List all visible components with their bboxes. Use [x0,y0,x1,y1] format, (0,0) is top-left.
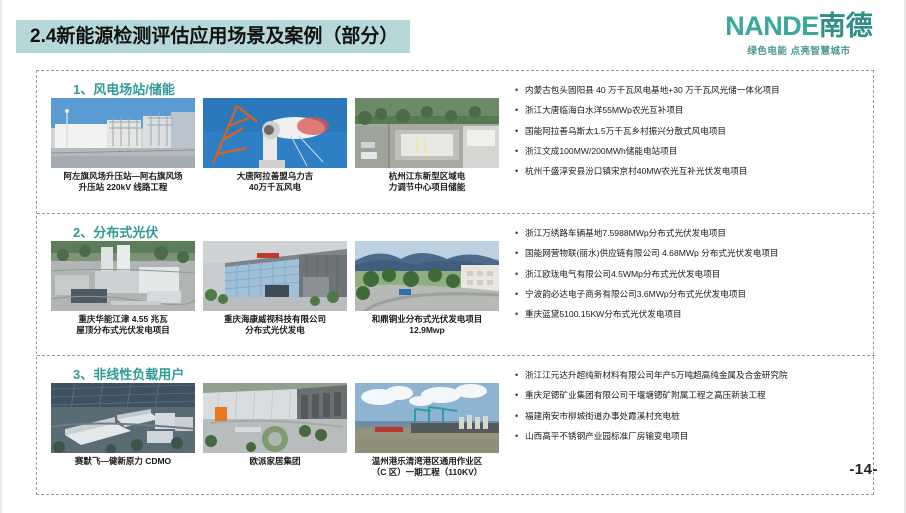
bullet-text: 国能网营物联(丽水)供应链有限公司 4.68MWp 分布式光伏发电项目 [525,248,867,259]
bullet-item: • 浙江欧珑电气有限公司4.5WMp分布式光伏发电项目 [515,269,867,280]
case-card[interactable]: 重庆华能江津 4.55 兆瓦 屋顶分布式光伏发电项目 [51,241,195,337]
case-card[interactable]: 和鼎铜业分布式光伏发电项目 12.9Mwp [355,241,499,337]
case-card[interactable]: 杭州江东新型区域电 力调节中心项目储能 [355,98,499,194]
bullet-dot-icon: • [515,105,525,116]
bullet-text: 内蒙古包头固阳县 40 万千瓦风电基地+30 万千瓦风光储一体化项目 [525,85,867,96]
bullet-dot-icon: • [515,269,525,280]
bullet-item: • 浙江文成100MW/200MWh储能电站项目 [515,146,867,157]
bullet-text: 浙江文成100MW/200MWh储能电站项目 [525,146,867,157]
bullet-dot-icon: • [515,166,525,177]
office-building-photo [203,241,347,311]
bullet-dot-icon: • [515,431,525,442]
case-card[interactable]: 赛默飞—健新原力 CDMO [51,383,195,479]
bullet-dot-icon: • [515,411,525,422]
case-caption: 欧派家居集团 [203,456,347,467]
bullet-text: 浙江大唐临海白水洋55MWp农光互补项目 [525,105,867,116]
bullet-item: • 浙江万绣路车辆基地7.5988MWp分布式光伏发电项目 [515,228,867,239]
section-1-bullets: • 内蒙古包头固阳县 40 万千瓦风电基地+30 万千瓦风光储一体化项目 • 浙… [515,85,867,186]
slide-header: 2.4新能源检测评估应用场景及案例（部分） NANDE南德 绿色电能 点亮智慧城… [2,0,906,66]
bullet-dot-icon: • [515,390,525,401]
logo-tagline: 绿色电能 点亮智慧城市 [704,43,894,57]
bullet-text: 浙江万绣路车辆基地7.5988MWp分布式光伏发电项目 [525,228,867,239]
slide: 2.4新能源检测评估应用场景及案例（部分） NANDE南德 绿色电能 点亮智慧城… [0,0,906,513]
section-2-bullets: • 浙江万绣路车辆基地7.5988MWp分布式光伏发电项目 • 国能网营物联(丽… [515,228,867,329]
brand-logo: NANDE南德 绿色电能 点亮智慧城市 [704,12,894,57]
section-2-cards: 重庆华能江津 4.55 兆瓦 屋顶分布式光伏发电项目 [51,241,499,337]
case-card[interactable]: 重庆海康威视科技有限公司 分布式光伏发电 [203,241,347,337]
section-distributed-pv: 2、分布式光伏 [37,213,875,355]
bullet-text: 宁波韵必达电子商务有限公司3.6MWp分布式光伏发电项目 [525,289,867,300]
case-caption: 重庆海康威视科技有限公司 分布式光伏发电 [203,314,347,337]
bullet-text: 浙江欧珑电气有限公司4.5WMp分布式光伏发电项目 [525,269,867,280]
bullet-text: 浙江江元达升超纯新材料有限公司年产5万吨超高纯金属及合金研究院 [525,370,867,381]
section-2-heading: 2、分布式光伏 [73,222,158,241]
case-caption: 阿左旗风场升压站—阿右旗风场 升压站 220kV 线路工程 [51,171,195,194]
page-title: 2.4新能源检测评估应用场景及案例（部分） [30,27,398,46]
case-card[interactable]: 温州港乐清湾港区通用作业区 （C 区）一期工程（110KV） [355,383,499,479]
bullet-item: • 浙江大唐临海白水洋55MWp农光互补项目 [515,105,867,116]
wind-turbine-photo [203,98,347,168]
bullet-dot-icon: • [515,146,525,157]
bullet-dot-icon: • [515,370,525,381]
section-nonlinear-load: 3、非线性负载用户 [37,355,875,496]
section-wind-storage: 1、风电场站/储能 [37,71,875,213]
bullet-item: • 重庆足锶矿业集团有限公司干堰塘锶矿附属工程之高压新装工程 [515,390,867,401]
case-caption: 大唐阿拉善盟乌力吉 40万千瓦风电 [203,171,347,194]
bullet-item: • 浙江江元达升超纯新材料有限公司年产5万吨超高纯金属及合金研究院 [515,370,867,381]
logo-latin-text: NANDE [725,11,819,41]
bullet-dot-icon: • [515,289,525,300]
bullet-item: • 重庆蓝黛5100.15KW分布式光伏发电项目 [515,309,867,320]
logo-chinese-text: 南德 [819,11,873,41]
port-terminal-photo [355,383,499,453]
power-plant-aerial-photo [51,241,195,311]
bullet-dot-icon: • [515,248,525,259]
factory-aerial-photo [203,383,347,453]
case-caption: 重庆华能江津 4.55 兆瓦 屋顶分布式光伏发电项目 [51,314,195,337]
bullet-item: • 山西高平不锈钢产业园标准厂房输变电项目 [515,431,867,442]
bullet-dot-icon: • [515,126,525,137]
bullet-dot-icon: • [515,228,525,239]
case-caption: 赛默飞—健新原力 CDMO [51,456,195,467]
logo-wordmark: NANDE南德 [704,12,894,40]
bullet-item: • 国能网营物联(丽水)供应链有限公司 4.68MWp 分布式光伏发电项目 [515,248,867,259]
section-3-heading: 3、非线性负载用户 [73,364,184,383]
energy-storage-aerial-photo [355,98,499,168]
bullet-item: • 宁波韵必达电子商务有限公司3.6MWp分布式光伏发电项目 [515,289,867,300]
bullet-dot-icon: • [515,85,525,96]
substation-photo [51,98,195,168]
case-card[interactable]: 阿左旗风场升压站—阿右旗风场 升压站 220kV 线路工程 [51,98,195,194]
page-number: -14- [849,461,878,478]
page-title-band: 2.4新能源检测评估应用场景及案例（部分） [16,20,410,53]
case-card[interactable]: 大唐阿拉善盟乌力吉 40万千瓦风电 [203,98,347,194]
bullet-text: 国能阿拉善乌斯太1.5万千瓦乡村振兴分散式风电项目 [525,126,867,137]
case-card[interactable]: 欧派家居集团 [203,383,347,479]
bullet-text: 福建南安市柳城街道办事处霞溪村充电桩 [525,411,867,422]
bullet-item: • 国能阿拉善乌斯太1.5万千瓦乡村振兴分散式风电项目 [515,126,867,137]
bullet-text: 山西高平不锈钢产业园标准厂房输变电项目 [525,431,867,442]
case-caption: 杭州江东新型区域电 力调节中心项目储能 [355,171,499,194]
case-caption: 温州港乐清湾港区通用作业区 （C 区）一期工程（110KV） [355,456,499,479]
bullet-dot-icon: • [515,309,525,320]
section-1-heading: 1、风电场站/储能 [73,79,175,98]
bullet-item: • 福建南安市柳城街道办事处霞溪村充电桩 [515,411,867,422]
bullet-text: 杭州千盛淳安县汾口镇宋京村40MW农光互补光伏发电项目 [525,166,867,177]
campus-aerial-photo [51,383,195,453]
section-3-bullets: • 浙江江元达升超纯新材料有限公司年产5万吨超高纯金属及合金研究院 • 重庆足锶… [515,370,867,451]
bullet-text: 重庆足锶矿业集团有限公司干堰塘锶矿附属工程之高压新装工程 [525,390,867,401]
bullet-text: 重庆蓝黛5100.15KW分布式光伏发电项目 [525,309,867,320]
content-frame: 1、风电场站/储能 [36,70,874,495]
industrial-park-photo [355,241,499,311]
bullet-item: • 内蒙古包头固阳县 40 万千瓦风电基地+30 万千瓦风光储一体化项目 [515,85,867,96]
case-caption: 和鼎铜业分布式光伏发电项目 12.9Mwp [355,314,499,337]
section-3-cards: 赛默飞—健新原力 CDMO [51,383,499,479]
bullet-item: • 杭州千盛淳安县汾口镇宋京村40MW农光互补光伏发电项目 [515,166,867,177]
section-1-cards: 阿左旗风场升压站—阿右旗风场 升压站 220kV 线路工程 [51,98,499,194]
